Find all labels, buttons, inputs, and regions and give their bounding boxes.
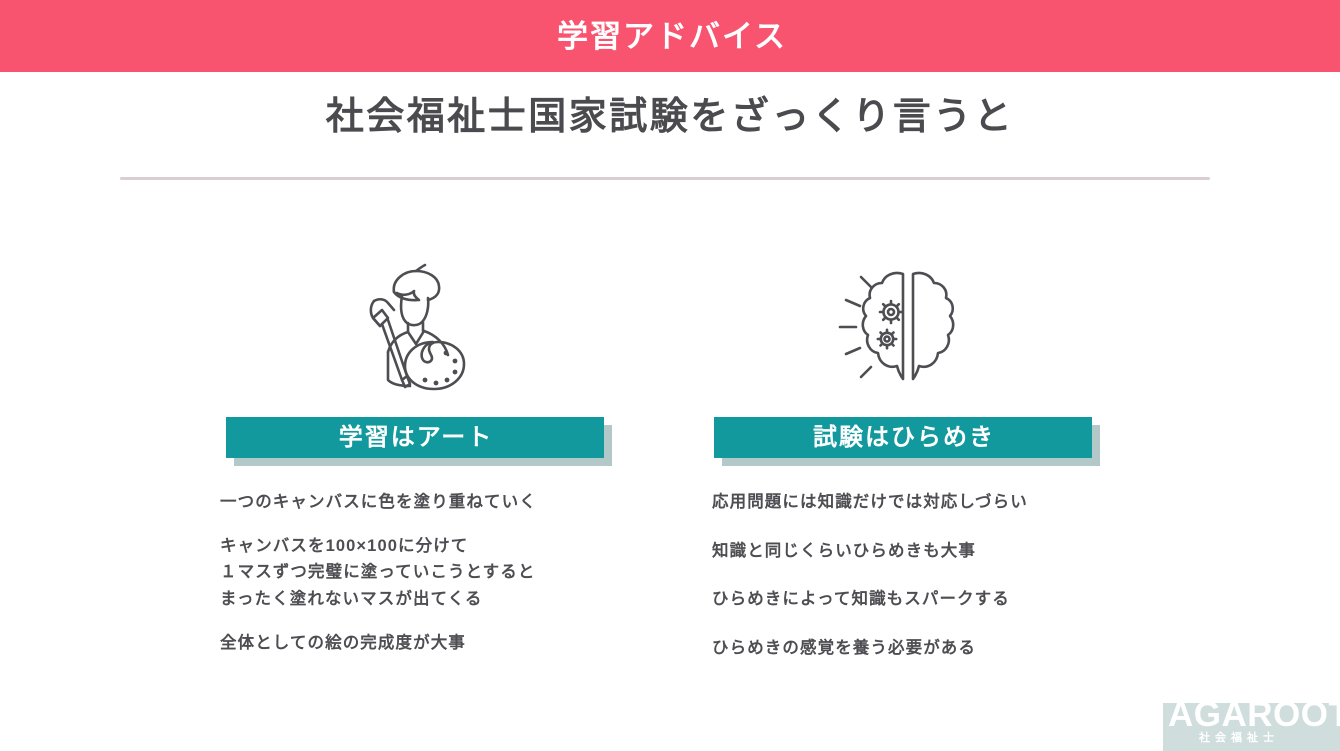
left-body-line-2: キャンバスを100×100に分けて １マスずつ完璧に塗っていこうとすると まった… [220,533,626,613]
left-label-bar: 学習はアート [206,417,626,467]
slide-root: 学習アドバイス 社会福祉士国家試験をざっくり言うと [0,0,1340,751]
title-divider [120,177,1210,180]
page-title: 社会福祉士国家試験をざっくり言うと [0,94,1340,142]
header-band: 学習アドバイス [0,0,1340,72]
artist-painter-icon [206,235,626,395]
agaroot-logo-subtitle: 社会福祉士 [1199,733,1279,744]
right-label-bar-fill: 試験はひらめき [714,417,1092,458]
right-body-line-4: ひらめきの感覚を養う必要がある [712,635,1114,662]
brain-gears-icon [694,235,1114,395]
right-body-line-3: ひらめきによって知識もスパークする [712,586,1114,613]
column-right: 試験はひらめき 応用問題には知識だけでは対応しづらい 知識と同じくらいひらめきも… [694,235,1114,684]
content-columns: 学習はアート 一つのキャンバスに色を塗り重ねていく キャンバスを100×100に… [0,235,1340,665]
left-label-bar-fill: 学習はアート [226,417,604,458]
left-body-line-1: 一つのキャンバスに色を塗り重ねていく [220,489,626,516]
column-left: 学習はアート 一つのキャンバスに色を塗り重ねていく キャンバスを100×100に… [206,235,626,657]
header-title: 学習アドバイス [557,21,787,52]
right-body-line-1: 応用問題には知識だけでは対応しづらい [712,489,1114,516]
right-body-list: 応用問題には知識だけでは対応しづらい 知識と同じくらいひらめきも大事 ひらめきに… [694,489,1114,662]
agaroot-logo-wordmark: AGAROOT [1168,697,1340,732]
right-label-bar: 試験はひらめき [694,417,1114,467]
left-label-text: 学習はアート [339,426,494,450]
right-body-line-2: 知識と同じくらいひらめきも大事 [712,538,1114,565]
left-body-line-3: 全体としての絵の完成度が大事 [220,630,626,657]
left-body-list: 一つのキャンバスに色を塗り重ねていく キャンバスを100×100に分けて １マス… [206,489,626,657]
right-label-text: 試験はひらめき [813,426,995,450]
